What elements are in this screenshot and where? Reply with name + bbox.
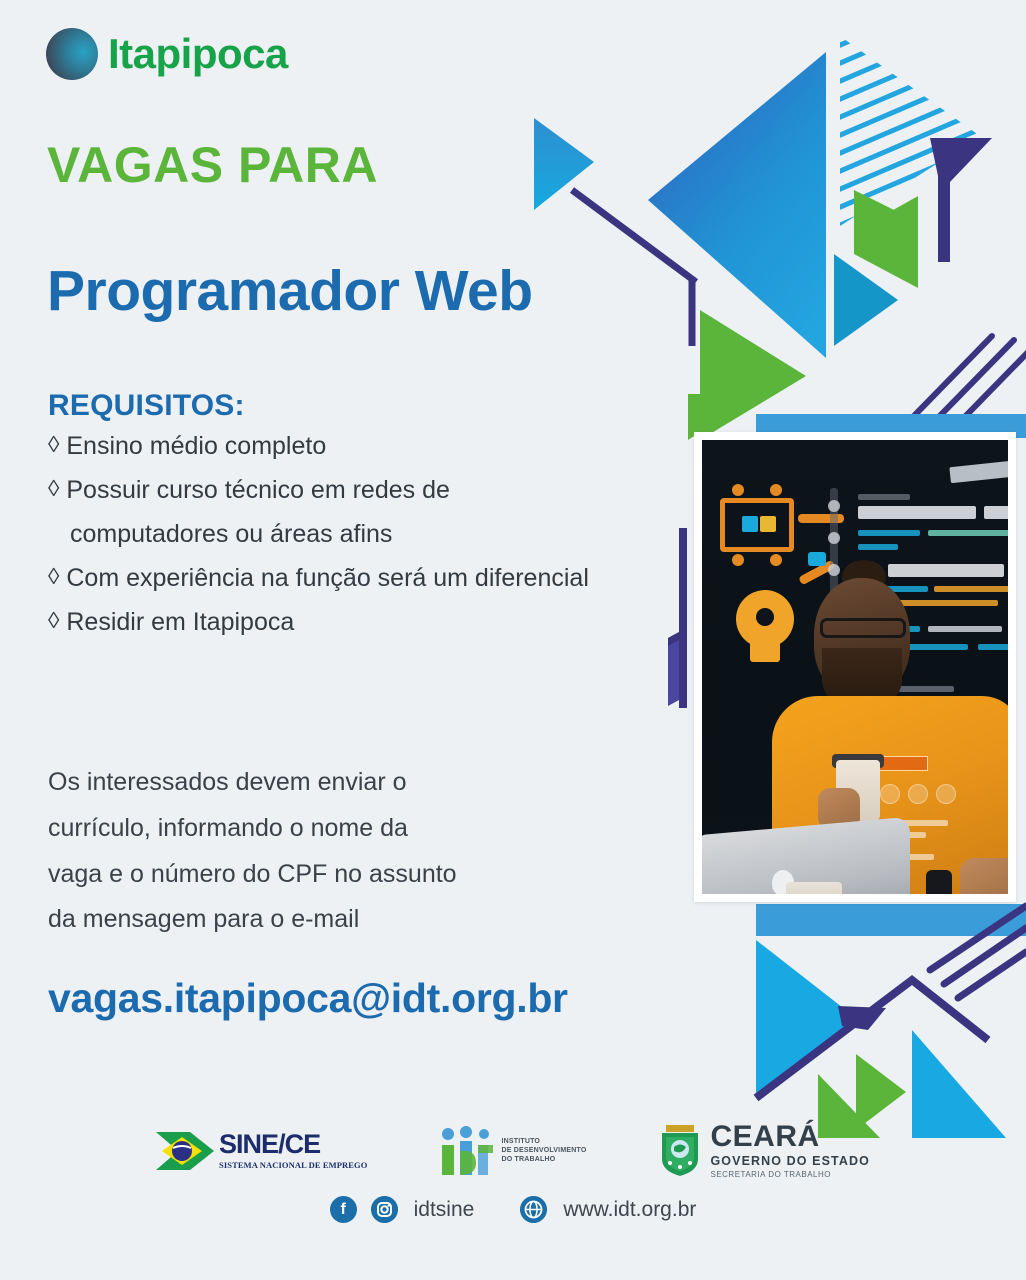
diamond-bullet-icon: ◊ (48, 556, 59, 596)
ceara-government-label: GOVERNO DO ESTADO (710, 1154, 869, 1168)
list-item-label: Com experiência na função será um difere… (66, 556, 589, 600)
facebook-icon[interactable]: f (330, 1196, 357, 1223)
itapipoca-logo: Itapipoca (46, 28, 288, 80)
ceara-coat-of-arms-icon (658, 1125, 702, 1177)
triangle-cyan-small (534, 118, 594, 210)
triangle-green-lower (700, 310, 806, 440)
diamond-bullet-icon: ◊ (48, 600, 59, 640)
purple-stripes-bottom (930, 906, 1026, 998)
triangle-blue-large (648, 52, 826, 358)
diamond-bullet-icon: ◊ (48, 424, 59, 464)
sine-ce-logo: SINE/CE SISTEMA NACIONAL DE EMPREGO (156, 1128, 367, 1174)
triangle-green-bottom-mid (856, 1054, 906, 1130)
list-item: ◊ Ensino médio completo (48, 424, 688, 468)
purple-accent-line (572, 190, 696, 282)
triangle-cyan-bottom-left (756, 940, 856, 1094)
ceara-government-logo: CEARÁ GOVERNO DO ESTADO SECRETARIA DO TR… (658, 1122, 869, 1179)
purple-stripes-upper-right (896, 326, 1026, 436)
instruction-line: vaga e o número do CPF no assunto (48, 852, 608, 898)
list-item-label: Possuir curso técnico em redes de (66, 468, 450, 512)
contact-email[interactable]: vagas.itapipoca@idt.org.br (48, 975, 568, 1022)
ceara-title: CEARÁ (710, 1122, 869, 1152)
application-instructions: Os interessados devem enviar o currículo… (48, 760, 608, 943)
idt-sub-line2: DE DESENVOLVIMENTO (501, 1146, 586, 1155)
website-url[interactable]: www.idt.org.br (563, 1198, 696, 1222)
triangle-green-mid (854, 190, 918, 288)
idt-logo: INSTITUTO DE DESENVOLVIMENTO DO TRABALHO (439, 1125, 586, 1177)
gradient-circle-icon (46, 28, 98, 80)
kicker-vagas-para: VAGAS PARA (47, 136, 378, 194)
footer-logos: SINE/CE SISTEMA NACIONAL DE EMPREGO INST… (0, 1122, 1026, 1179)
sine-title: SINE/CE (219, 1131, 367, 1158)
list-item: ◊ Residir em Itapipoca (48, 600, 688, 644)
blue-bar-bottom (756, 904, 1026, 936)
list-item: ◊ Possuir curso técnico em redes de (48, 468, 688, 512)
instruction-line: Os interessados devem enviar o (48, 760, 608, 806)
social-handle: idtsine (414, 1198, 475, 1222)
triangle-cyan-mid (834, 254, 898, 346)
diamond-bullet-icon: ◊ (48, 468, 59, 508)
photo-frame (694, 432, 1016, 902)
purple-hook-shape (930, 138, 992, 262)
requirements-heading: REQUISITOS: (48, 389, 245, 423)
instruction-line: currículo, informando o nome da (48, 806, 608, 852)
idt-sub-line3: DO TRABALHO (501, 1155, 586, 1164)
list-item-continuation: computadores ou áreas afins (48, 512, 688, 556)
social-media-bar: f idtsine www.idt.org.br (0, 1196, 1026, 1223)
page-title: Programador Web (47, 258, 533, 324)
programmer-photo (702, 440, 1008, 894)
list-item: ◊ Com experiência na função será um dife… (48, 556, 688, 600)
idt-sub-line1: INSTITUTO (501, 1137, 586, 1146)
instagram-icon[interactable] (371, 1196, 398, 1223)
requirements-list: ◊ Ensino médio completo ◊ Possuir curso … (48, 424, 688, 644)
instruction-line: da mensagem para o e-mail (48, 897, 608, 943)
purple-chevron (756, 980, 988, 1098)
decorative-shapes-top-right (520, 10, 1026, 450)
sine-subtitle: SISTEMA NACIONAL DE EMPREGO (219, 1160, 367, 1170)
ceara-secretariat-label: SECRETARIA DO TRABALHO (710, 1170, 869, 1179)
job-posting-poster: Itapipoca VAGAS PARA Programador Web REQ… (0, 0, 1026, 1280)
striped-triangle-cyan (810, 10, 1020, 250)
idt-subtitle: INSTITUTO DE DESENVOLVIMENTO DO TRABALHO (501, 1137, 586, 1165)
logo-text: Itapipoca (108, 30, 288, 78)
brazil-flag-icon (156, 1128, 214, 1174)
idt-people-icon (439, 1125, 495, 1177)
list-item-label: Residir em Itapipoca (66, 600, 294, 644)
list-item-label: Ensino médio completo (66, 424, 326, 468)
globe-icon[interactable] (520, 1196, 547, 1223)
decorative-shapes-bottom-right (700, 898, 1026, 1138)
